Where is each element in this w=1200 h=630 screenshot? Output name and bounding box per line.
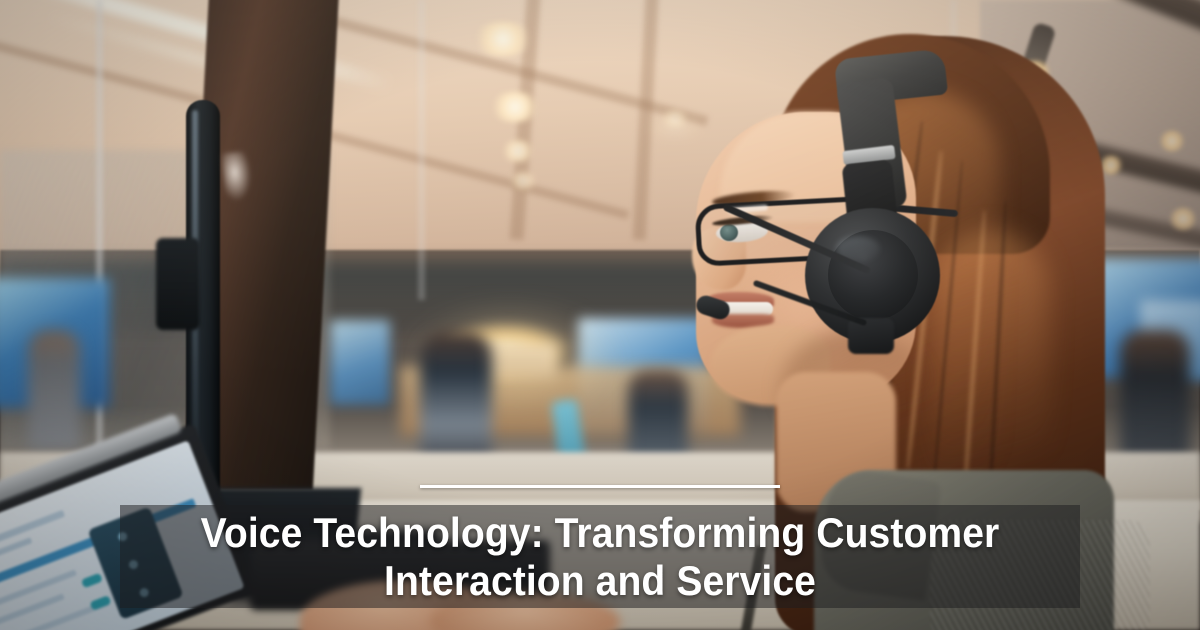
title-overlay-band: Voice Technology: Transforming Customer … bbox=[120, 505, 1080, 608]
ceiling-downlight bbox=[470, 22, 536, 56]
background-person bbox=[28, 330, 80, 450]
ceiling-downlight bbox=[508, 172, 538, 190]
hero-banner: Voice Technology: Transforming Customer … bbox=[0, 0, 1200, 630]
title-divider-rule bbox=[420, 485, 780, 488]
banner-title: Voice Technology: Transforming Customer … bbox=[154, 509, 1047, 605]
ceiling-downlight bbox=[500, 140, 536, 162]
background-screen bbox=[330, 320, 390, 405]
monitor-logo bbox=[221, 151, 254, 204]
headset-mic-mount bbox=[848, 318, 894, 354]
glass-mullion bbox=[418, 0, 425, 300]
laptop-ui-chip bbox=[81, 573, 103, 589]
monitor-stand bbox=[156, 238, 200, 330]
ceiling-downlight bbox=[488, 92, 542, 122]
